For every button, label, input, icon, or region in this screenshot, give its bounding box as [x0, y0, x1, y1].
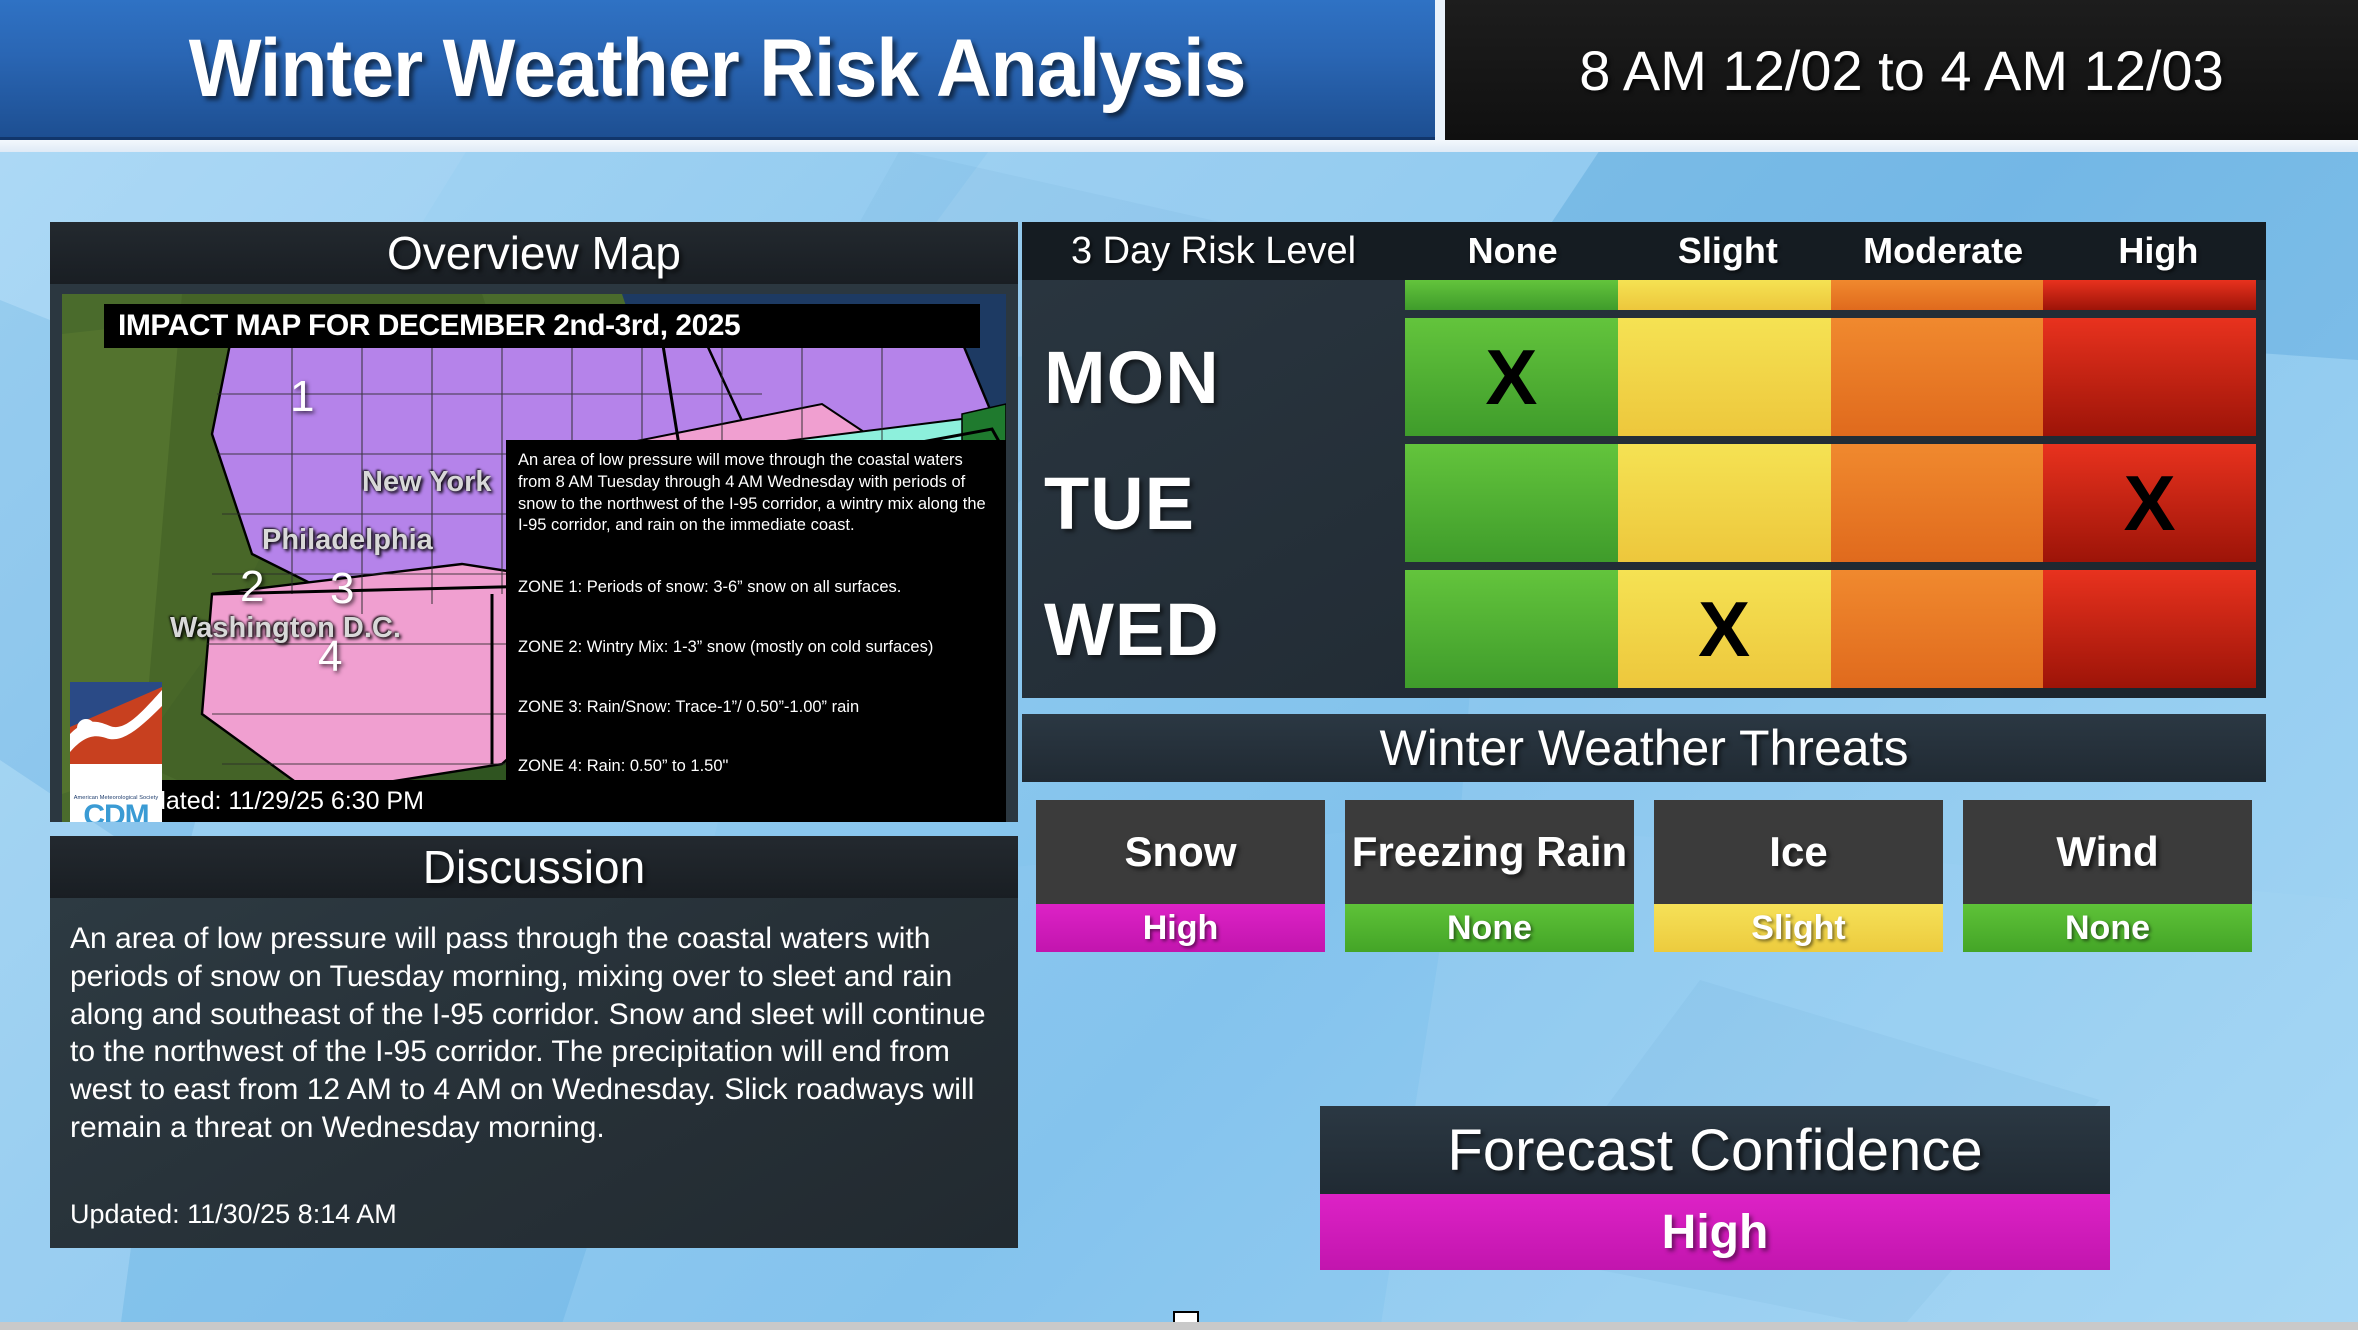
- overview-map-title: Overview Map: [387, 226, 681, 280]
- forecast-confidence-value-wrap: High: [1320, 1194, 2110, 1270]
- threat-value-ice: Slight: [1751, 909, 1845, 948]
- cdm-logo-mark: CDM: [83, 801, 148, 822]
- risk-marker-tue: X: [2124, 464, 2176, 542]
- header-underline: [0, 140, 2358, 152]
- threat-value-ice-wrap: Slight: [1654, 904, 1943, 952]
- threat-value-wind-wrap: None: [1963, 904, 2252, 952]
- threat-box-wind[interactable]: Wind None: [1963, 800, 2252, 952]
- threat-box-freezing-rain[interactable]: Freezing Rain None: [1345, 800, 1634, 952]
- risk-level-grid: 3 Day Risk Level None Slight Moderate Hi…: [1022, 222, 2266, 698]
- map-banner: IMPACT MAP FOR DECEMBER 2nd-3rd, 2025: [104, 304, 980, 348]
- risk-cells-mon: X: [1405, 318, 2256, 436]
- risk-grid-header-row: 3 Day Risk Level None Slight Moderate Hi…: [1022, 222, 2266, 280]
- header-divider: [1435, 0, 1445, 140]
- threats-row: Snow High Freezing Rain None Ice Slight: [1022, 800, 2266, 952]
- discussion-panel: Discussion An area of low pressure will …: [50, 836, 1018, 1248]
- forecast-time-range: 8 AM 12/02 to 4 AM 12/03: [1579, 38, 2223, 103]
- risk-column-label-none: None: [1468, 230, 1558, 272]
- threat-value-freezing-rain: None: [1447, 909, 1532, 948]
- map-banner-text: IMPACT MAP FOR DECEMBER 2nd-3rd, 2025: [118, 309, 740, 343]
- page-title: Winter Weather Risk Analysis: [189, 22, 1246, 116]
- map-updated-bar: Updated: 11/29/25 6:30 PM: [104, 780, 562, 822]
- header-time-panel: 8 AM 12/02 to 4 AM 12/03: [1445, 0, 2358, 140]
- map-legend-zone-4: ZONE 4: Rain: 0.50” to 1.50": [518, 756, 994, 778]
- risk-cells-wed: X: [1405, 570, 2256, 688]
- threat-box-snow[interactable]: Snow High: [1036, 800, 1325, 952]
- discussion-text: An area of low pressure will pass throug…: [70, 920, 998, 1147]
- map-city-label-washington-dc: Washington D.C.: [170, 612, 401, 645]
- risk-cell-wed-none[interactable]: [1405, 570, 1618, 688]
- risk-cell-tue-none[interactable]: [1405, 444, 1618, 562]
- threat-label-snow: Snow: [1125, 831, 1237, 873]
- cdm-certification-logo: American Meteorological Society CDM Cert…: [70, 764, 162, 822]
- risk-day-wed: WED: [1044, 587, 1220, 672]
- risk-cell-mon-slight[interactable]: [1618, 318, 1831, 436]
- discussion-header: Discussion: [50, 836, 1018, 898]
- risk-grid-title-cell: 3 Day Risk Level: [1022, 230, 1405, 273]
- map-legend-intro: An area of low pressure will move throug…: [518, 450, 994, 537]
- threat-value-snow: High: [1143, 909, 1219, 948]
- risk-column-label-slight: Slight: [1678, 230, 1778, 272]
- left-column: Overview Map: [50, 222, 1018, 1248]
- risk-row-label-wed: WED: [1022, 570, 1405, 688]
- risk-row-mon: MON X: [1022, 318, 2266, 436]
- risk-column-header-slight: Slight: [1620, 230, 1835, 272]
- risk-grid-title: 3 Day Risk Level: [1071, 230, 1356, 273]
- risk-row-wed: WED X: [1022, 570, 2266, 688]
- risk-column-header-none: None: [1405, 230, 1620, 272]
- risk-legend-swatch-high: [2043, 280, 2256, 310]
- threat-label-snow-wrap: Snow: [1036, 800, 1325, 904]
- threat-label-wind-wrap: Wind: [1963, 800, 2252, 904]
- map-legend-zone-3: ZONE 3: Rain/Snow: Trace-1”/ 0.50”-1.00”…: [518, 697, 994, 719]
- forecast-confidence-title: Forecast Confidence: [1447, 1117, 1982, 1184]
- right-column: 3 Day Risk Level None Slight Moderate Hi…: [1022, 222, 2266, 952]
- threat-box-ice[interactable]: Ice Slight: [1654, 800, 1943, 952]
- overview-map-body: IMPACT MAP FOR DECEMBER 2nd-3rd, 2025 Ne…: [50, 284, 1018, 822]
- overview-map-header: Overview Map: [50, 222, 1018, 284]
- risk-cells-tue: X: [1405, 444, 2256, 562]
- map-updated-text: Updated: 11/29/25 6:30 PM: [120, 787, 424, 816]
- american-meteorological-society-logo: [70, 682, 162, 764]
- map-zone-legend: An area of low pressure will move throug…: [506, 440, 1006, 822]
- risk-marker-wed: X: [1698, 590, 1750, 668]
- threat-label-freezing-rain-wrap: Freezing Rain: [1345, 800, 1634, 904]
- risk-cell-mon-none[interactable]: X: [1405, 318, 1618, 436]
- threat-value-wind: None: [2065, 909, 2150, 948]
- risk-column-header-moderate: Moderate: [1836, 230, 2051, 272]
- threat-label-wind: Wind: [2056, 831, 2158, 873]
- overview-map-panel: Overview Map: [50, 222, 1018, 822]
- threat-value-snow-wrap: High: [1036, 904, 1325, 952]
- risk-cell-mon-high[interactable]: [2043, 318, 2256, 436]
- risk-cell-tue-slight[interactable]: [1618, 444, 1831, 562]
- bottom-edge-strip: [0, 1322, 2358, 1330]
- risk-legend-swatch-moderate: [1831, 280, 2044, 310]
- map-zone-number-2: 2: [240, 562, 264, 612]
- map-legend-zone-1: ZONE 1: Periods of snow: 3-6” snow on al…: [518, 577, 994, 599]
- risk-cell-tue-moderate[interactable]: [1831, 444, 2044, 562]
- risk-column-label-moderate: Moderate: [1863, 230, 2023, 272]
- forecast-confidence-header: Forecast Confidence: [1320, 1106, 2110, 1194]
- forecast-confidence-panel: Forecast Confidence High: [1320, 1106, 2110, 1270]
- risk-row-tue: TUE X: [1022, 444, 2266, 562]
- risk-row-label-mon: MON: [1022, 318, 1405, 436]
- risk-legend-swatch-none: [1405, 280, 1618, 310]
- map-city-label-new-york: New York: [362, 466, 491, 499]
- threats-title: Winter Weather Threats: [1380, 719, 1909, 777]
- threats-header: Winter Weather Threats: [1022, 714, 2266, 782]
- threat-label-freezing-rain: Freezing Rain: [1352, 831, 1627, 873]
- map-zone-number-3: 3: [330, 564, 354, 614]
- risk-cell-tue-high[interactable]: X: [2043, 444, 2256, 562]
- risk-cell-wed-high[interactable]: [2043, 570, 2256, 688]
- risk-column-label-high: High: [2118, 230, 2198, 272]
- map-city-label-philadelphia: Philadelphia: [262, 524, 433, 557]
- risk-cell-wed-slight[interactable]: X: [1618, 570, 1831, 688]
- risk-cell-wed-moderate[interactable]: [1831, 570, 2044, 688]
- risk-legend-swatch-slight: [1618, 280, 1831, 310]
- header-title-panel: Winter Weather Risk Analysis: [0, 0, 1435, 140]
- risk-grid-column-headers: None Slight Moderate High: [1405, 230, 2266, 272]
- risk-cell-mon-moderate[interactable]: [1831, 318, 2044, 436]
- forecast-confidence-value: High: [1662, 1205, 1769, 1260]
- map-zone-number-4: 4: [318, 632, 342, 682]
- discussion-updated: Updated: 11/30/25 8:14 AM: [70, 1199, 998, 1230]
- risk-row-label-tue: TUE: [1022, 444, 1405, 562]
- discussion-title: Discussion: [423, 840, 645, 894]
- discussion-body: An area of low pressure will pass throug…: [50, 898, 1018, 1248]
- risk-day-mon: MON: [1044, 335, 1220, 420]
- map-canvas[interactable]: IMPACT MAP FOR DECEMBER 2nd-3rd, 2025 Ne…: [62, 294, 1006, 822]
- map-legend-zone-2: ZONE 2: Wintry Mix: 1-3” snow (mostly on…: [518, 637, 994, 659]
- threat-label-ice: Ice: [1769, 831, 1827, 873]
- map-zone-number-1: 1: [290, 372, 314, 422]
- risk-legend-colorbar: [1405, 280, 2256, 310]
- threat-value-freezing-rain-wrap: None: [1345, 904, 1634, 952]
- threat-label-ice-wrap: Ice: [1654, 800, 1943, 904]
- risk-column-header-high: High: [2051, 230, 2266, 272]
- risk-marker-mon: X: [1485, 338, 1537, 416]
- app-header: Winter Weather Risk Analysis 8 AM 12/02 …: [0, 0, 2358, 140]
- risk-day-tue: TUE: [1044, 461, 1195, 546]
